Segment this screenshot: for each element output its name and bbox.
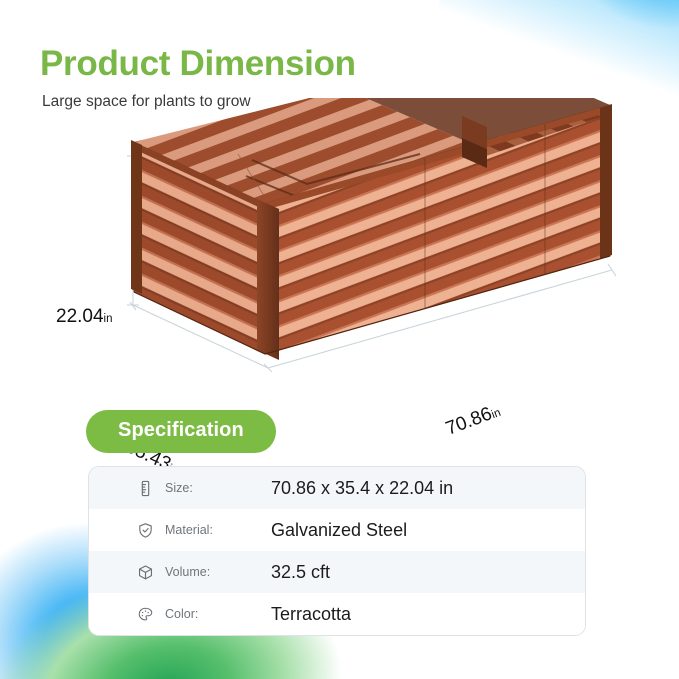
bed-corner-post-right [600, 104, 612, 259]
spec-value: 32.5 cft [249, 562, 330, 583]
ruler-icon [137, 480, 154, 497]
spec-value: Terracotta [249, 604, 351, 625]
spec-key-label: Color: [165, 607, 198, 621]
table-row: Color: Terracotta [89, 593, 585, 635]
spec-key-label: Volume: [165, 565, 210, 579]
spec-value: Galvanized Steel [249, 520, 407, 541]
product-dimension-infographic: Product Dimension Large space for plants… [0, 0, 679, 679]
specification-table: Size: 70.86 x 35.4 x 22.04 in Material: … [88, 466, 586, 636]
bed-corner-post-front [257, 199, 279, 360]
table-row: Material: Galvanized Steel [89, 509, 585, 551]
spec-key-cell: Volume: [89, 564, 249, 581]
palette-icon [137, 606, 154, 623]
specification-badge: Specification [86, 410, 276, 453]
spec-key-cell: Size: [89, 480, 249, 497]
bed-corner-post-left [131, 140, 142, 294]
table-row: Size: 70.86 x 35.4 x 22.04 in [89, 467, 585, 509]
shield-icon [137, 522, 154, 539]
spec-key-label: Size: [165, 481, 193, 495]
cube-icon [137, 564, 154, 581]
spec-key-label: Material: [165, 523, 213, 537]
spec-key-cell: Color: [89, 606, 249, 623]
spec-value: 70.86 x 35.4 x 22.04 in [249, 478, 453, 499]
spec-key-cell: Material: [89, 522, 249, 539]
product-illustration: 22.04in 70.86in 35.43in [0, 98, 679, 408]
page-title: Product Dimension [40, 46, 356, 83]
table-row: Volume: 32.5 cft [89, 551, 585, 593]
dimension-label-height: 22.04in [56, 306, 113, 328]
